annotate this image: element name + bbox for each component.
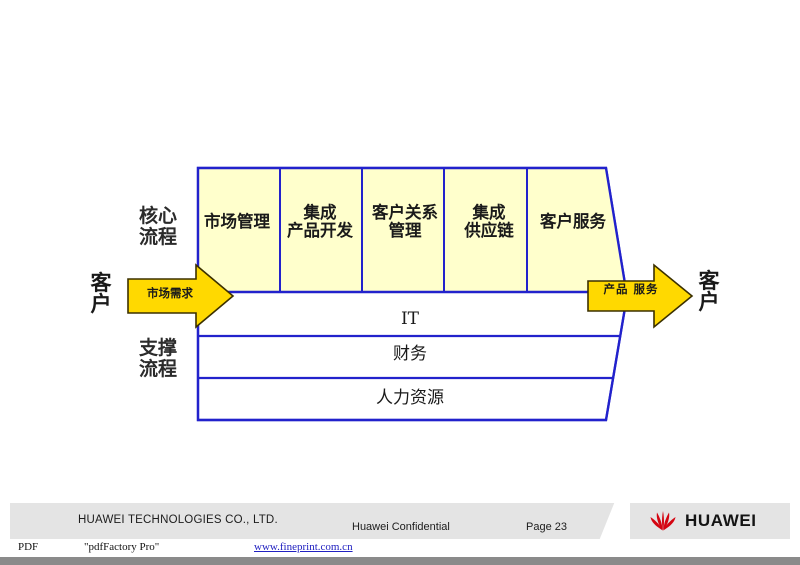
footer-page-number: Page 23 (526, 521, 567, 533)
bottom-gray-strip (0, 557, 800, 565)
huawei-wordmark: HUAWEI (685, 511, 757, 531)
footer-company-name: HUAWEI TECHNOLOGIES CO., LTD. (78, 514, 278, 526)
core-process-band (198, 169, 626, 292)
huawei-logo: HUAWEI (648, 508, 780, 534)
diagram-vector-layer (0, 0, 800, 500)
watermark-fineprint-link[interactable]: www.fineprint.com.cn (254, 541, 353, 553)
huawei-flower-icon (648, 509, 678, 533)
slide-canvas: 核心 流程 支撑 流程 客户 客户 市场需求 产品 服务 市场管理 集成 产品开… (0, 0, 800, 565)
watermark-pdf-tag: PDF (18, 541, 38, 553)
footer-confidentiality-notice: Huawei Confidential (352, 521, 450, 533)
watermark-pdffactory-label: "pdfFactory Pro" (84, 541, 159, 553)
process-architecture-diagram: 核心 流程 支撑 流程 客户 客户 市场需求 产品 服务 市场管理 集成 产品开… (0, 0, 800, 500)
